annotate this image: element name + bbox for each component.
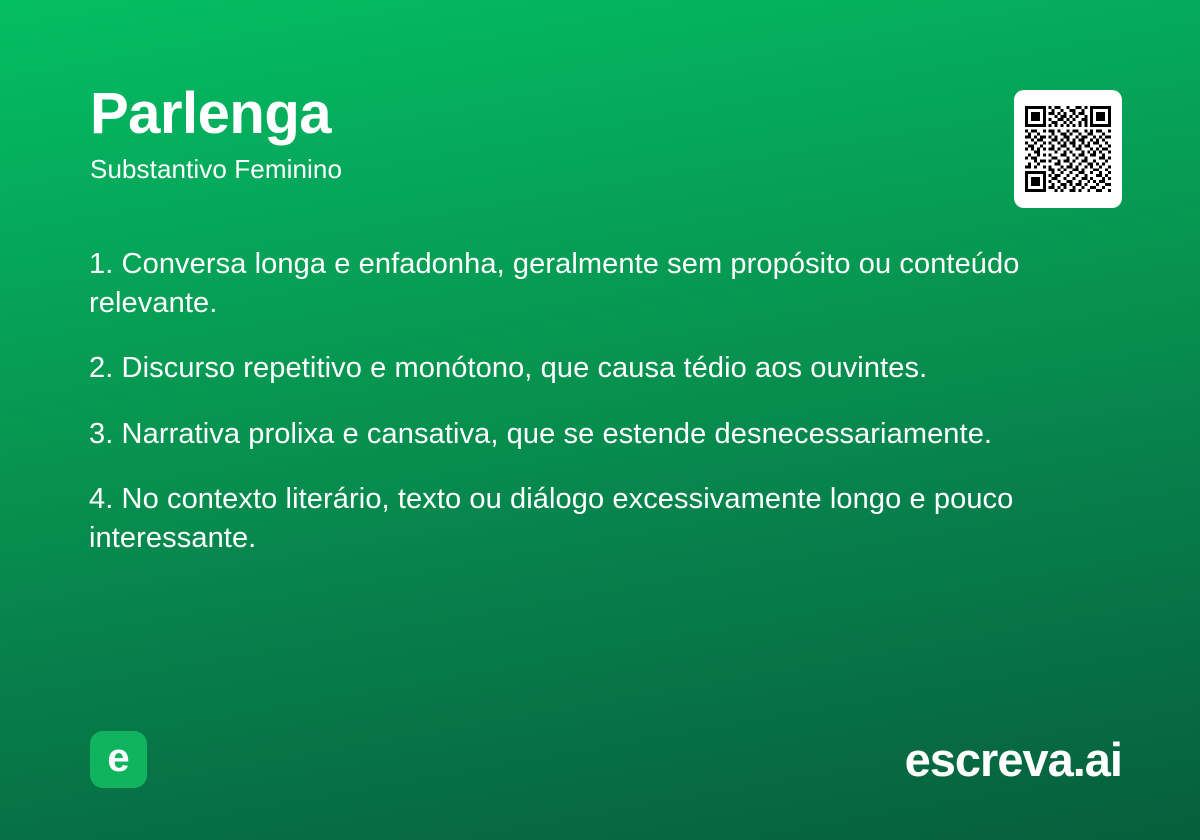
brand-logo-letter: e (107, 738, 129, 778)
definition-item: 2. Discurso repetitivo e monótono, que c… (89, 349, 1111, 388)
qr-code-icon (1025, 106, 1111, 192)
qr-code-container[interactable] (1014, 90, 1122, 208)
dictionary-card: Parlenga Substantivo Feminino (0, 0, 1200, 840)
definition-list: 1. Conversa longa e enfadonha, geralment… (89, 245, 1111, 557)
definition-item: 4. No contexto literário, texto ou diálo… (89, 480, 1111, 557)
brand-logo-icon[interactable]: e (90, 731, 147, 788)
card-header: Parlenga Substantivo Feminino (90, 84, 1110, 185)
card-footer: e escreva.ai (90, 730, 1122, 788)
word-class-label: Substantivo Feminino (90, 155, 1110, 185)
page-title: Parlenga (90, 84, 1110, 144)
definition-item: 3. Narrativa prolixa e cansativa, que se… (89, 415, 1111, 454)
brand-wordmark: escreva.ai (905, 736, 1122, 783)
definition-item: 1. Conversa longa e enfadonha, geralment… (89, 245, 1111, 322)
